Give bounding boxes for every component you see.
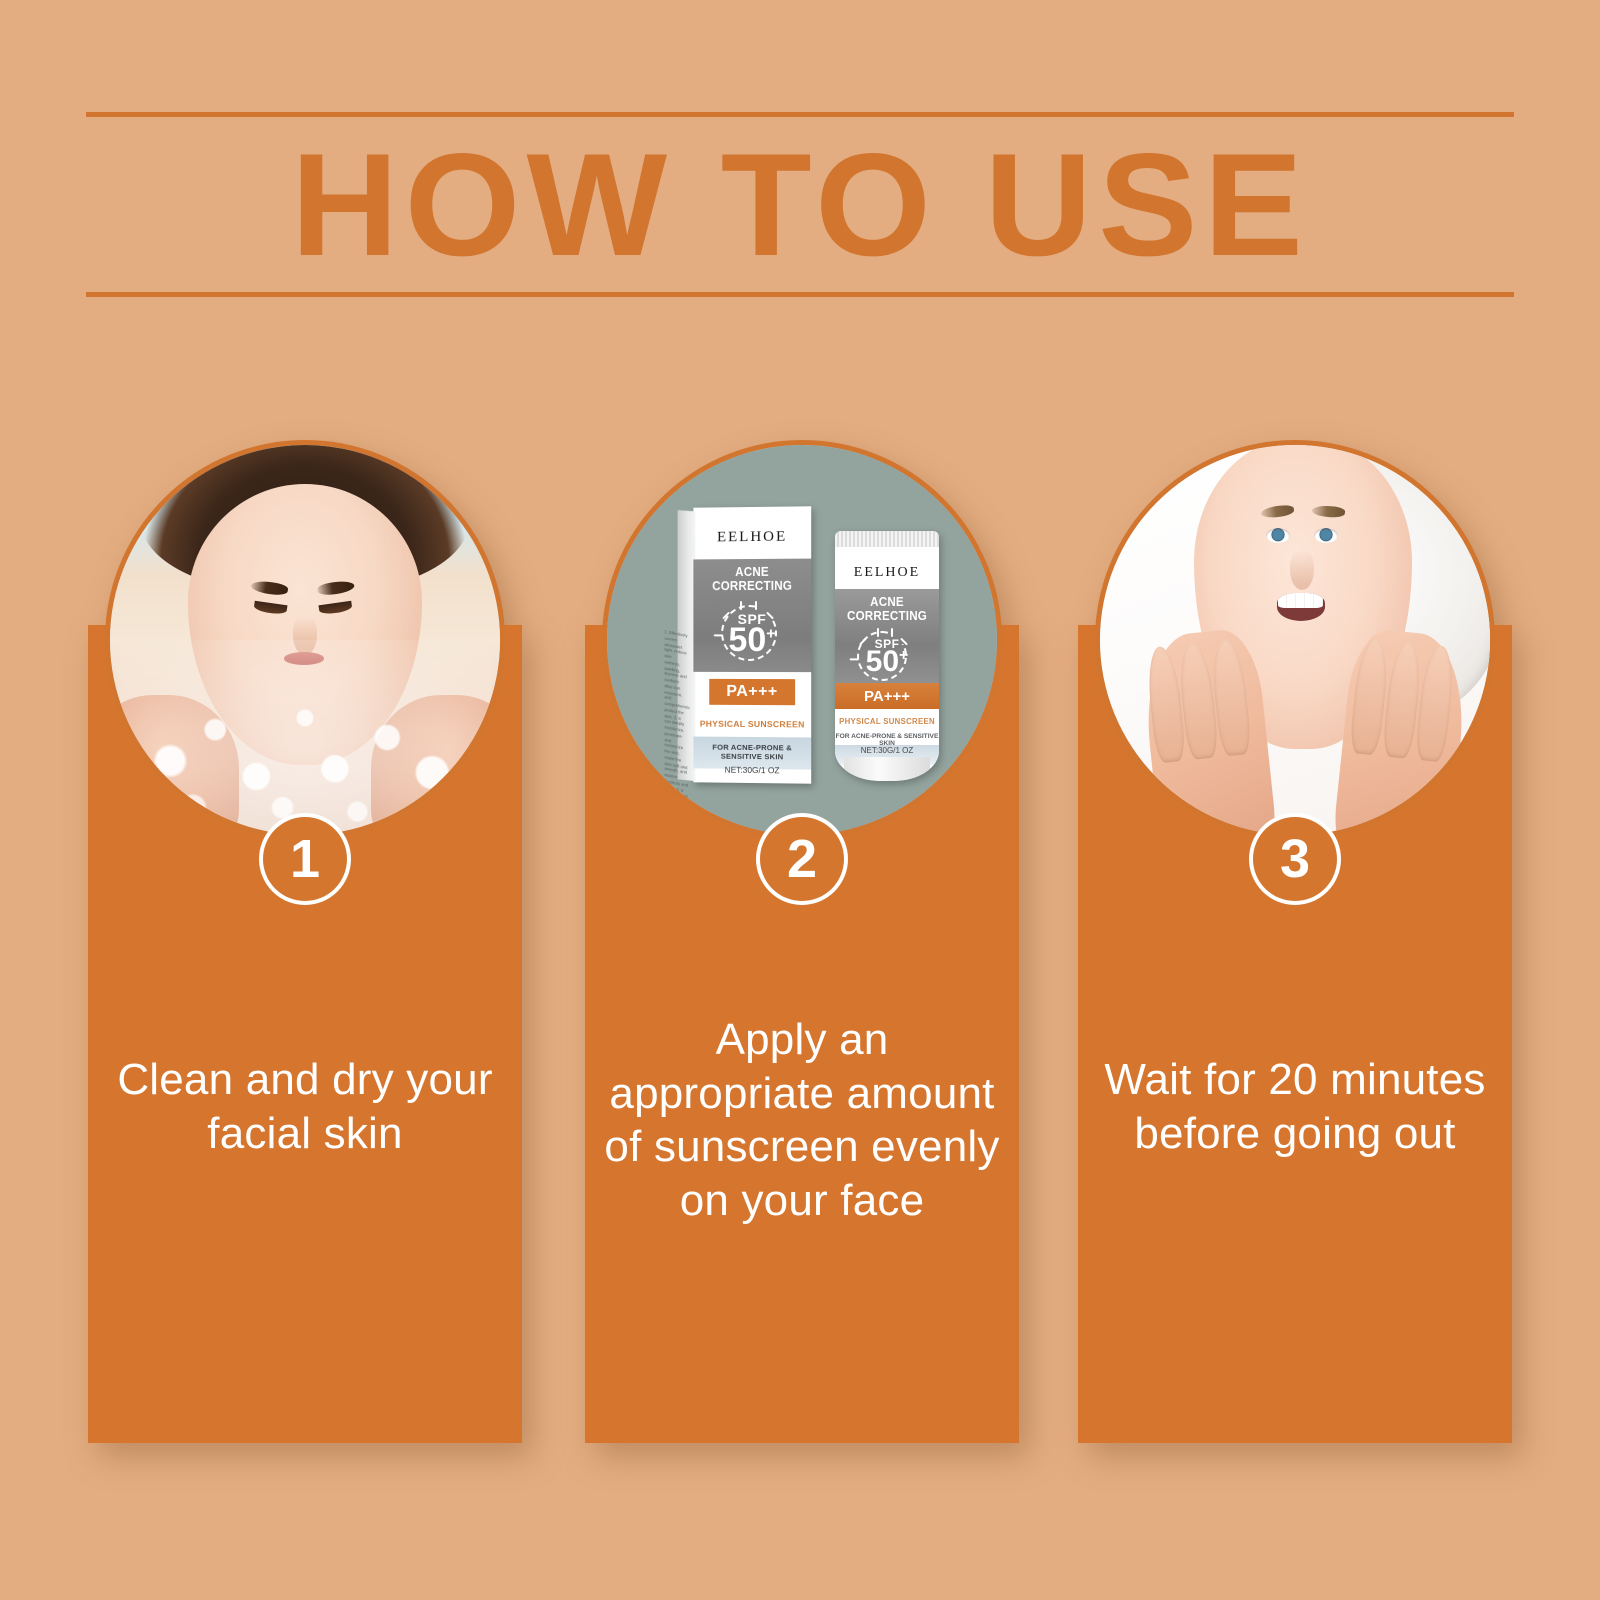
carton-benefits-text: 1. Effectively correct ultraviolet light…: [663, 628, 690, 835]
tube-cap: [844, 757, 930, 781]
open-smiling-mouth: [1277, 593, 1325, 621]
step-1-number-badge: 1: [259, 813, 351, 905]
tube-net-weight: NET:30G/1 OZ: [835, 746, 939, 755]
step-3-image-bubble: [1095, 440, 1495, 840]
eye-right: [1314, 528, 1338, 544]
product-carton: 1. Effectively correct ultraviolet light…: [693, 506, 811, 783]
spf-plus: +: [766, 626, 775, 643]
carton-brand-label: EELHOE: [693, 528, 811, 546]
eye-left: [1266, 528, 1290, 544]
spf-value: 50+: [693, 623, 811, 657]
product-tube: EELHOE ACNE CORRECTING SPF 50+: [835, 531, 939, 781]
spf-plus: +: [899, 647, 908, 664]
smiling-woman-image: [1100, 445, 1490, 835]
carton-type-label: PHYSICAL SUNSCREEN: [693, 719, 811, 730]
eye-left-closed: [253, 601, 287, 615]
step-2-image-bubble: 1. Effectively correct ultraviolet light…: [602, 440, 1002, 840]
tube-crimp-seal: [835, 531, 939, 547]
step-3-caption: Wait for 20 minutes before going out: [1092, 1053, 1498, 1160]
sunscreen-product-image: 1. Effectively correct ultraviolet light…: [607, 445, 997, 835]
finger: [1414, 644, 1456, 763]
water-splash: [118, 640, 492, 835]
nose: [1290, 550, 1314, 591]
spf-value: 50+: [835, 647, 939, 677]
sun-icon: SPF 50+: [693, 589, 811, 669]
spf-number: 50: [866, 645, 899, 678]
eyebrow-left: [1261, 504, 1295, 518]
step-card-2: 1. Effectively correct ultraviolet light…: [585, 625, 1019, 1443]
eye-right-closed: [319, 601, 353, 615]
finger: [1144, 645, 1186, 764]
carton-skin-type-label: FOR ACNE-PRONE & SENSITIVE SKIN: [693, 742, 811, 761]
step-1-caption: Clean and dry your facial skin: [102, 1053, 508, 1160]
carton-grey-panel: ACNE CORRECTING SPF 50+: [693, 559, 811, 673]
header-rule-bottom: [86, 292, 1514, 297]
step-card-1: 1 Clean and dry your facial skin: [88, 625, 522, 1443]
step-1-image-bubble: [105, 440, 505, 840]
eyebrow-left: [250, 579, 289, 596]
carton-net-weight: NET:30G/1 OZ: [693, 764, 811, 775]
tube-pa-band: PA+++: [835, 683, 939, 709]
teeth: [1278, 593, 1322, 608]
sun-ray: [740, 601, 742, 610]
sun-ray: [755, 601, 757, 610]
carton-pa-band: PA+++: [709, 679, 795, 705]
sun-ray: [877, 628, 879, 637]
tube-grey-panel: ACNE CORRECTING SPF 50+: [835, 589, 939, 683]
step-3-number-badge: 3: [1249, 813, 1341, 905]
page-title: HOW TO USE: [72, 132, 1529, 278]
spf-number: 50: [728, 621, 766, 659]
eyebrow-right: [1311, 504, 1345, 517]
step-2-number-badge: 2: [756, 813, 848, 905]
header: HOW TO USE: [86, 112, 1514, 297]
tube-type-label: PHYSICAL SUNSCREEN: [835, 717, 939, 726]
tube-brand-label: EELHOE: [835, 565, 939, 581]
woman-washing-face-image: [110, 445, 500, 835]
step-2-caption: Apply an appropriate amount of sunscreen…: [599, 1013, 1005, 1228]
step-card-3: 3 Wait for 20 minutes before going out: [1078, 625, 1512, 1443]
sun-ray: [891, 628, 893, 637]
eyebrow-right: [316, 579, 355, 596]
header-rule-top: [86, 112, 1514, 117]
